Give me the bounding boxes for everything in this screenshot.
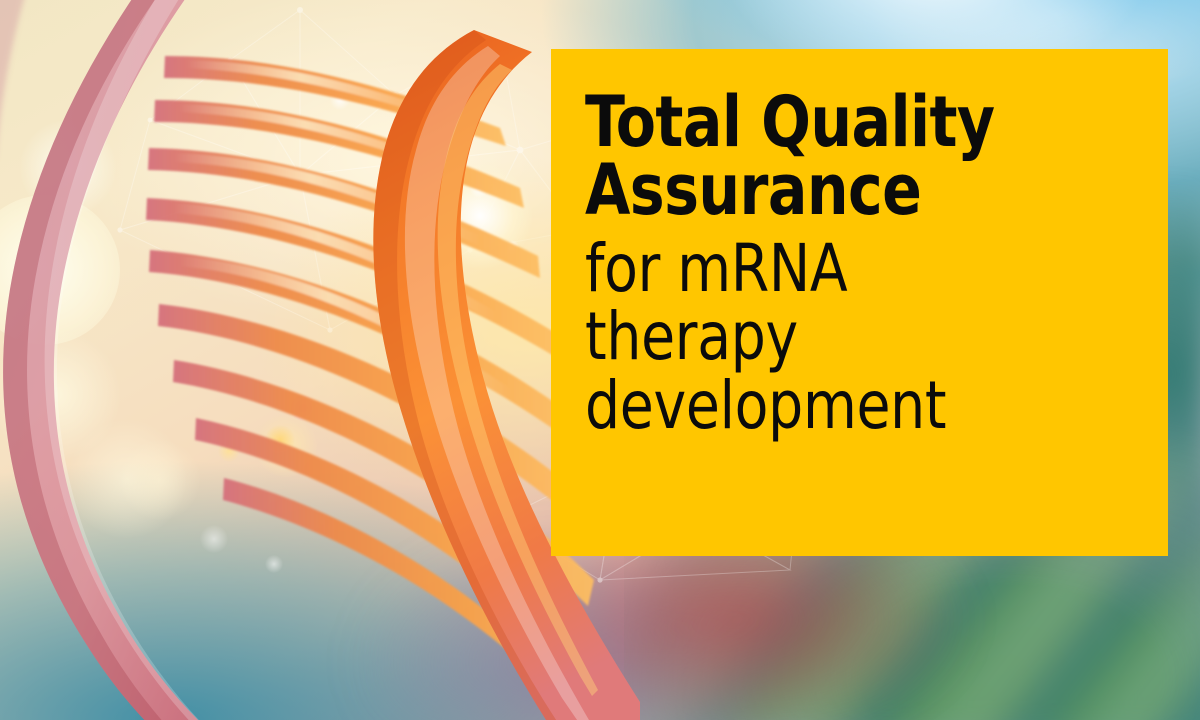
headline-line-2: Assurance [585,157,1096,225]
page-title: Total Quality Assurance [585,89,1096,225]
marketing-banner: Total Quality Assurance for mRNA therapy… [0,0,1200,720]
subhead-line-2: therapy [585,303,1096,372]
subhead-line-1: for mRNA [585,235,1096,304]
dna-helix-icon [0,0,640,720]
page-subtitle: for mRNA therapy development [585,235,1096,441]
subhead-line-3: development [585,372,1096,441]
headline-line-1: Total Quality [585,89,1096,157]
headline-panel: Total Quality Assurance for mRNA therapy… [551,49,1168,556]
